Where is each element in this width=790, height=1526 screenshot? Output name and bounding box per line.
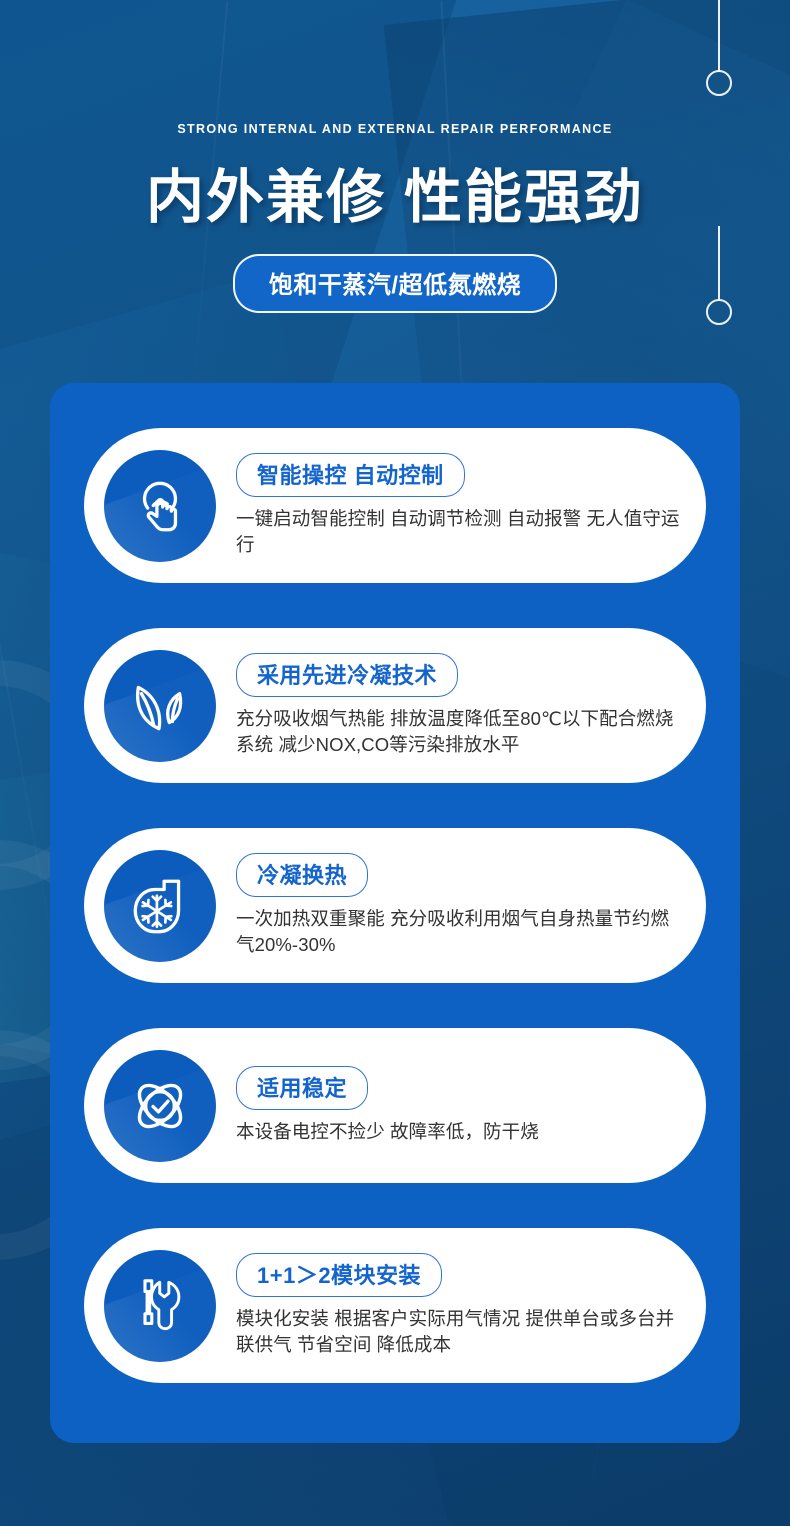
feature-card[interactable]: 智能操控 自动控制 一键启动智能控制 自动调节检测 自动报警 无人值守运行 [84,428,706,583]
page-header: STRONG INTERNAL AND EXTERNAL REPAIR PERF… [0,0,790,313]
card-title: 1+1＞2模块安装 [236,1253,442,1297]
card-body: 1+1＞2模块安装 模块化安装 根据客户实际用气情况 提供单台或多台并联供气 节… [216,1253,706,1359]
feature-card[interactable]: 1+1＞2模块安装 模块化安装 根据客户实际用气情况 提供单台或多台并联供气 节… [84,1228,706,1383]
subtitle-pill: 饱和干蒸汽/超低氮燃烧 [233,254,557,313]
touch-gesture-icon [104,450,216,562]
screwdriver-wrench-icon [104,1250,216,1362]
atom-check-icon [104,1050,216,1162]
card-description: 本设备电控不捡少 故障率低，防干烧 [236,1119,680,1145]
feature-card[interactable]: 采用先进冷凝技术 充分吸收烟气热能 排放温度降低至80℃以下配合燃烧系统 减少N… [84,628,706,783]
snowflake-droplet-icon [104,850,216,962]
feature-card[interactable]: 适用稳定 本设备电控不捡少 故障率低，防干烧 [84,1028,706,1183]
page-title: 内外兼修 性能强劲 [0,150,790,234]
card-description: 一次加热双重聚能 充分吸收利用烟气自身热量节约燃气20%-30% [236,906,680,959]
subtitle-pill-wrap: 饱和干蒸汽/超低氮燃烧 [0,254,790,313]
card-description: 充分吸收烟气热能 排放温度降低至80℃以下配合燃烧系统 减少NOX,CO等污染排… [236,706,680,759]
feature-card[interactable]: 冷凝换热 一次加热双重聚能 充分吸收利用烟气自身热量节约燃气20%-30% [84,828,706,983]
card-body: 智能操控 自动控制 一键启动智能控制 自动调节检测 自动报警 无人值守运行 [216,453,706,559]
card-description: 模块化安装 根据客户实际用气情况 提供单台或多台并联供气 节省空间 降低成本 [236,1306,680,1359]
card-description: 一键启动智能控制 自动调节检测 自动报警 无人值守运行 [236,506,680,559]
card-body: 冷凝换热 一次加热双重聚能 充分吸收利用烟气自身热量节约燃气20%-30% [216,853,706,959]
card-title: 冷凝换热 [236,853,368,897]
feature-panel: 智能操控 自动控制 一键启动智能控制 自动调节检测 自动报警 无人值守运行 采用… [50,383,740,1443]
eyebrow-text: STRONG INTERNAL AND EXTERNAL REPAIR PERF… [0,122,790,136]
card-title: 采用先进冷凝技术 [236,653,458,697]
promo-page: STRONG INTERNAL AND EXTERNAL REPAIR PERF… [0,0,790,1526]
card-body: 适用稳定 本设备电控不捡少 故障率低，防干烧 [216,1066,706,1145]
card-body: 采用先进冷凝技术 充分吸收烟气热能 排放温度降低至80℃以下配合燃烧系统 减少N… [216,653,706,759]
card-title: 智能操控 自动控制 [236,453,465,497]
leaf-icon [104,650,216,762]
card-title: 适用稳定 [236,1066,368,1110]
